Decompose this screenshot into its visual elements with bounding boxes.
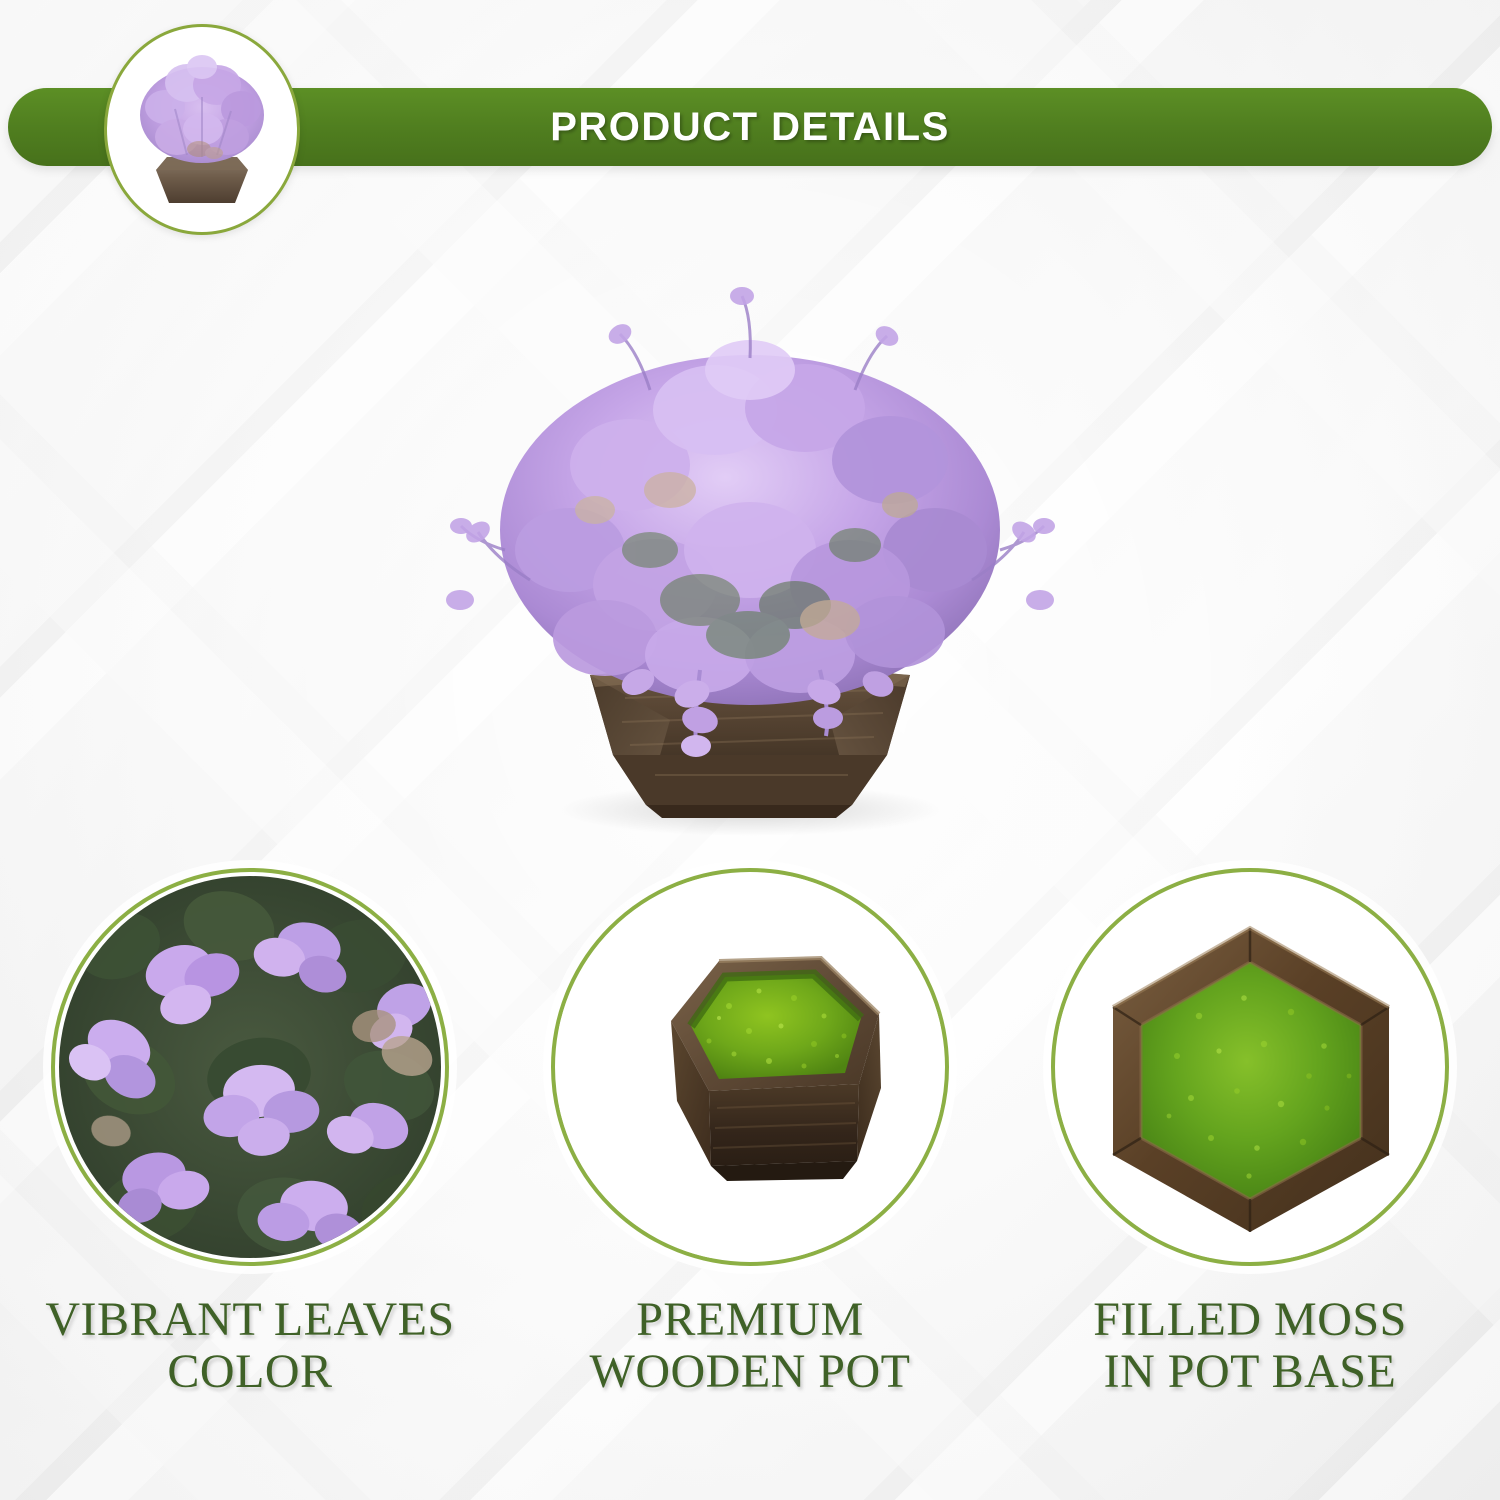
feature-image-circle <box>551 868 949 1266</box>
product-details-infographic: PRODUCT DETAILS <box>0 0 1500 1500</box>
feature-premium-wooden-pot: PREMIUM WOODEN POT <box>520 868 980 1398</box>
hero-product-image <box>380 240 1120 850</box>
closeup-purple-leaves-icon <box>59 876 441 1258</box>
hexagonal-wooden-pot-with-moss-icon <box>559 876 941 1258</box>
potted-lavender-plant-thumbnail-icon <box>117 37 287 222</box>
feature-label: VIBRANT LEAVES COLOR <box>45 1294 454 1398</box>
feature-label: PREMIUM WOODEN POT <box>590 1294 911 1398</box>
product-thumbnail-badge <box>104 24 300 235</box>
page-title: PRODUCT DETAILS <box>550 105 950 150</box>
feature-image-circle <box>51 868 449 1266</box>
feature-image-circle <box>1051 868 1449 1266</box>
top-view-hexagonal-pot-moss-icon <box>1059 876 1441 1258</box>
feature-vibrant-leaves-color: VIBRANT LEAVES COLOR <box>20 868 480 1398</box>
potted-purple-eucalyptus-plant-icon <box>400 250 1100 850</box>
feature-filled-moss-in-pot-base: FILLED MOSS IN POT BASE <box>1020 868 1480 1398</box>
feature-label: FILLED MOSS IN POT BASE <box>1093 1294 1407 1398</box>
feature-row: VIBRANT LEAVES COLOR <box>0 868 1500 1468</box>
hero-foliage <box>446 287 1055 757</box>
